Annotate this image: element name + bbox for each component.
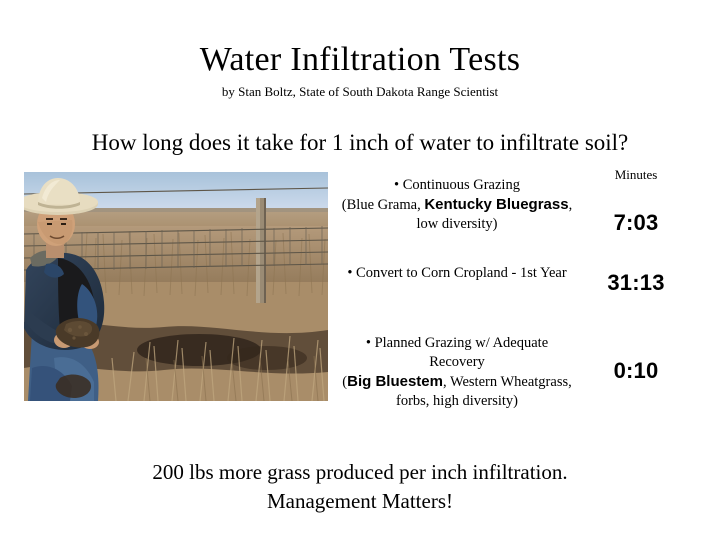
page-title: Water Infiltration Tests	[0, 42, 720, 78]
slide-canvas: Water Infiltration Tests by Stan Boltz, …	[0, 0, 720, 540]
list-item: • Planned Grazing w/ Adequate Recovery (…	[338, 334, 576, 411]
bullet-marker: •	[347, 265, 352, 281]
bullet-text-primary: Planned Grazing w/ Adequate Recovery	[375, 335, 549, 370]
bullet-segment-plain: (Blue Grama,	[342, 197, 425, 213]
footer-line-2: Management Matters!	[0, 487, 720, 516]
bullet-marker: •	[394, 177, 399, 193]
footer-line-1: 200 lbs more grass produced per inch inf…	[0, 458, 720, 487]
page-subtitle: by Stan Boltz, State of South Dakota Ran…	[0, 84, 720, 100]
list-item: • Continuous Grazing (Blue Grama, Kentuc…	[338, 176, 576, 234]
bullet-segment-emphasis: Kentucky Bluegrass	[424, 196, 568, 213]
minutes-value: 7:03	[576, 210, 696, 236]
minutes-value: 31:13	[576, 270, 696, 296]
photo-graphic	[24, 172, 328, 401]
bullet-list: • Continuous Grazing (Blue Grama, Kentuc…	[338, 172, 576, 462]
footer-text: 200 lbs more grass produced per inch inf…	[0, 458, 720, 516]
rangeland-soil-sample-photo	[24, 172, 328, 401]
minutes-value: 0:10	[576, 358, 696, 384]
bullet-text-primary: Convert to Corn Cropland - 1st Year	[356, 265, 567, 281]
question-heading: How long does it take for 1 inch of wate…	[0, 130, 720, 156]
bullet-text-primary: Continuous Grazing	[403, 177, 520, 193]
bullet-marker: •	[366, 335, 371, 351]
list-item: • Convert to Corn Cropland - 1st Year	[338, 264, 576, 283]
minutes-column-header: Minutes	[576, 167, 696, 183]
bullet-segment-emphasis: Big Bluestem	[347, 373, 443, 390]
